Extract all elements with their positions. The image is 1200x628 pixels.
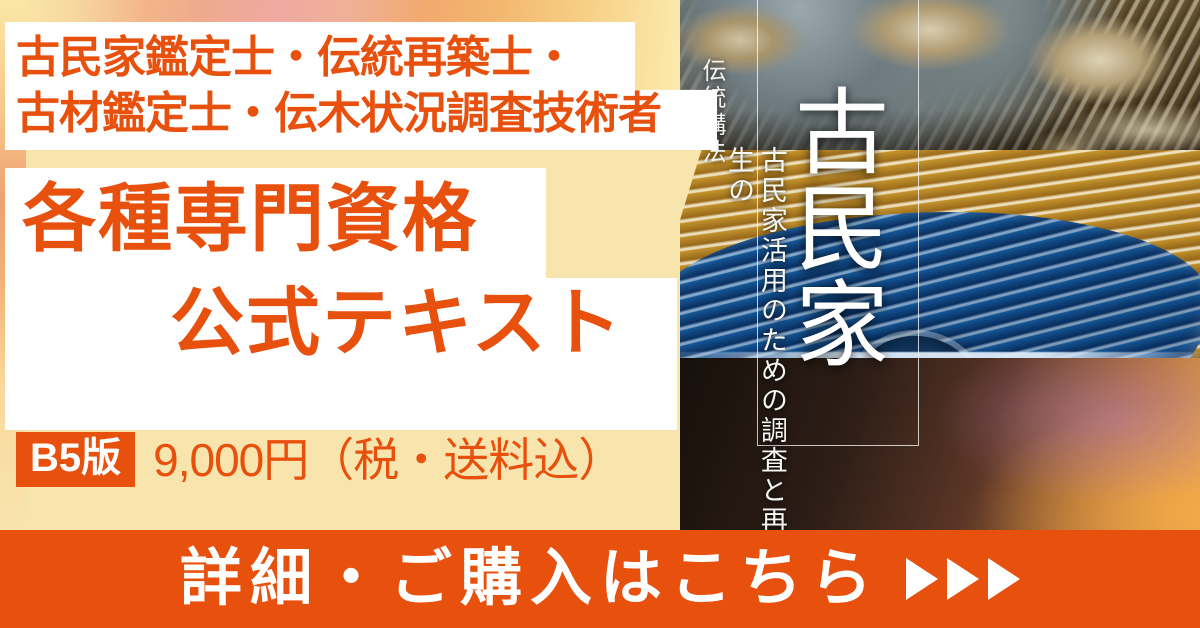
triangle-right-icon bbox=[947, 558, 979, 600]
cta-button-bar[interactable]: 詳細・ご購入はこちら bbox=[0, 530, 1200, 628]
cover-title-vertical: 古民家 bbox=[784, 12, 896, 442]
triangle-right-icon bbox=[988, 558, 1020, 600]
promo-banner: 伝統構法 古民家活用のための調査と再生の 古民家 古民家鑑定士・伝統再築士・ 古… bbox=[0, 0, 1200, 628]
book-cover-image: 伝統構法 古民家活用のための調査と再生の 古民家 bbox=[680, 0, 1200, 530]
cta-arrow-group bbox=[906, 558, 1020, 600]
headline-line-2: 公式テキスト bbox=[170, 286, 624, 360]
triangle-right-icon bbox=[906, 558, 938, 600]
qualifications-text: 古民家鑑定士・伝統再築士・ 古材鑑定士・伝木状況調査技術者 bbox=[16, 30, 661, 143]
price-row: B5版 9,000円（税・送料込） bbox=[16, 432, 623, 487]
headline-line-1: 各種専門資格 bbox=[22, 182, 478, 256]
format-badge: B5版 bbox=[16, 432, 135, 487]
price-amount: 9,000円（税・送料込） bbox=[153, 437, 623, 483]
cta-label: 詳細・ご購入はこちら bbox=[180, 548, 880, 610]
